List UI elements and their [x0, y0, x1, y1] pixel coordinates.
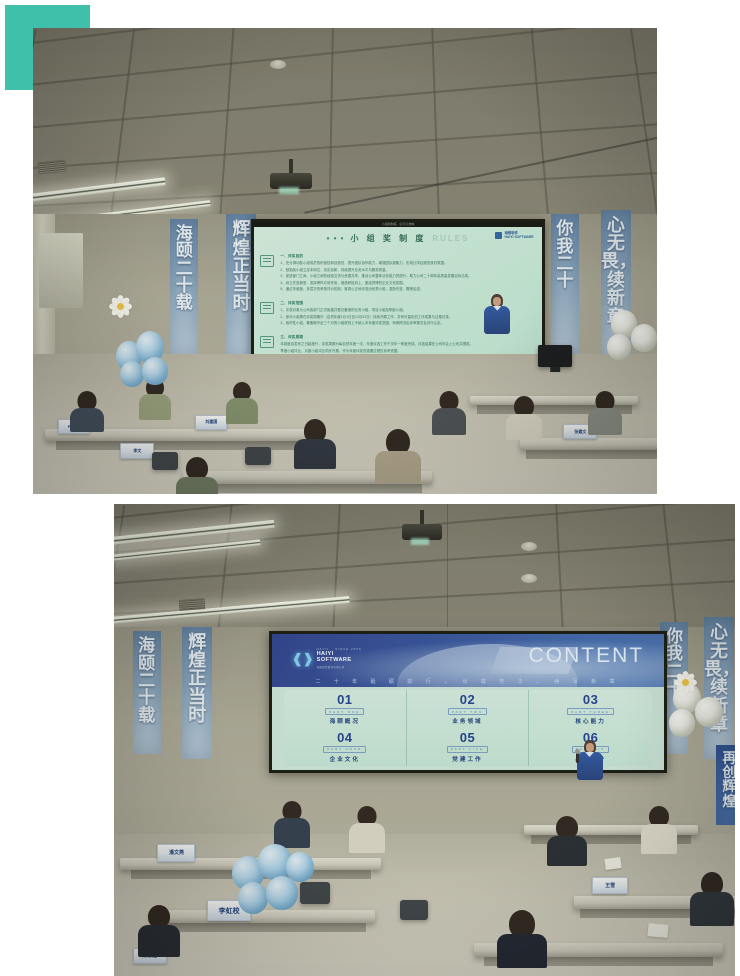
slide-title-text: 小 组 奖 制 度 [350, 234, 426, 243]
placard-name: 刘建国 [205, 419, 217, 425]
agenda-item[interactable]: 03 PART THREE 核心能力 [529, 690, 652, 728]
audience-member [507, 396, 541, 438]
banner-text: 海颐二十载 [170, 225, 198, 312]
banner-text: 你我二十 [551, 220, 579, 289]
slide-title: CONTENT [529, 644, 645, 668]
name-placard: 刘建国 [195, 415, 227, 430]
document-icon [260, 255, 274, 267]
flower-decoration [673, 669, 699, 695]
agenda-number: 02 [460, 693, 475, 706]
agenda-item[interactable]: 05 PART FIVE 党建工作 [407, 728, 530, 766]
presenter-standing [482, 294, 512, 338]
agenda-label: 核心能力 [575, 717, 605, 725]
balloon-cluster-center [232, 830, 322, 916]
agenda-item[interactable]: 04 PART FOUR 企业文化 [284, 728, 407, 766]
handout-paper [648, 923, 669, 938]
audience-member [350, 806, 384, 850]
ceiling-projector [270, 159, 312, 193]
ceiling [33, 28, 657, 242]
slide-block: 一、评奖目的 1、充分调动各小组成员的积极性和创造性，提升团队协作能力，增强团队… [280, 254, 525, 292]
placard-name: 张建文 [574, 429, 586, 435]
audience-member [177, 457, 217, 494]
audience-member [376, 429, 420, 481]
balloon-cluster-right [607, 308, 657, 368]
side-banner: 再创辉煌 [716, 745, 735, 825]
photo-top-presentation-room: 海颐二十载 辉煌正当时 你我二十 心无畏，续新章 小组奖制度 - 幻灯片放映 •… [33, 28, 657, 494]
slide-block-line: 3、促进部门之间、小组之间的经验交流与资源共享，推动公司整体业务能力的提升，助力… [280, 274, 525, 279]
slide-block-line: 2、鼓励各小组立足本岗位，务实创新，持续提升业务水平与服务质量。 [280, 268, 525, 273]
agenda-part-label: PART FIVE [447, 746, 488, 753]
agenda-item[interactable]: 02 PART TWO 业务领域 [407, 690, 530, 728]
agenda-number: 03 [583, 693, 598, 706]
chair [400, 900, 428, 920]
slide-block: 三、评奖周期 本制度自发布之日起施行，评奖周期为每自然年度一次，年度评选工作于次… [280, 335, 525, 354]
audience-member [692, 872, 732, 924]
agenda-part-label: PART THREE [567, 708, 614, 715]
photo-bottom-presentation-room: 海颐二十载 辉煌正当时 你我二十 心无畏，续新章 再创辉煌 公司介绍 - 幻灯片… [114, 504, 735, 976]
slide-block-line: 1、充分调动各小组成员的积极性和创造性，提升团队协作能力，增强团队凝聚力，形成比… [280, 261, 525, 266]
slide-window-label: 小组奖制度 - 幻灯片放映 [382, 222, 415, 227]
banner-text: 海颐二十载 [133, 637, 161, 724]
document-icon [260, 336, 274, 348]
audience-member [295, 419, 335, 467]
name-placard: 李文 [120, 443, 154, 459]
placard-name: 王雪 [605, 882, 615, 889]
audience-member [549, 816, 585, 864]
audience-member [70, 391, 104, 429]
audience-member [499, 910, 545, 966]
agenda-number: 05 [460, 731, 475, 744]
swan-logo-icon: ❰❱ [292, 652, 314, 665]
slide-logo-line2: HAIYI SOFTWARE [504, 236, 533, 240]
projection-screen: 小组奖制度 - 幻灯片放映 • • •小 组 奖 制 度RULES 海颐软件 H… [251, 219, 544, 359]
chair [152, 452, 178, 470]
slide-window-bar: 小组奖制度 - 幻灯片放映 [254, 222, 541, 227]
slide-title-dots: • • • [327, 234, 345, 243]
banner-left-inner: 辉煌正当时 [182, 627, 212, 759]
placard-name: 潘文燕 [169, 849, 184, 856]
agenda-label: 海颐概况 [330, 717, 360, 725]
slide-tagline: 二 十 年 砥 砺 前 行 ， 廿 载 芳 华 ， 续 写 新 章 [272, 678, 663, 685]
ceiling-projector [402, 510, 442, 544]
agenda-number: 04 [337, 731, 352, 744]
podium-monitor [538, 345, 572, 367]
audience-member [432, 391, 466, 433]
projection-screen: 公司介绍 - 幻灯片放映 ❰❱ HAIYI · SINCE 2005 HAIYI… [269, 631, 666, 773]
slide-title-ghost: RULES [432, 234, 469, 243]
agenda-part-label: PART TWO [448, 708, 487, 715]
name-placard: 潘文燕 [157, 844, 195, 862]
logo-name-line2: SOFTWARE [317, 657, 362, 663]
audience-member [642, 806, 676, 852]
slide-block-line: 5、通过多维度、多层次的考核评价机制，客观公正地评选出优秀小组，激励先进、鞭策后… [280, 287, 525, 292]
side-whiteboard [39, 233, 83, 308]
slide-block-line: 本制度自发布之日起施行，评奖周期为每自然年度一次，年度评选工作于次年一季度完成，… [280, 342, 525, 347]
agenda-part-label: PART ONE [325, 708, 364, 715]
presenter-with-microphone [574, 740, 606, 788]
agenda-part-label: PART FOUR [323, 746, 366, 753]
name-placard: 王雪 [592, 877, 628, 894]
slide-block-line: 季度小组评比、月度小组评比同步开展，作为年度评奖的重要过程性参考依据。 [280, 349, 525, 354]
agenda-item[interactable]: 01 PART ONE 海颐概况 [284, 690, 407, 728]
slide-logo: 海颐软件 HAIYI SOFTWARE [495, 232, 533, 240]
side-banner-text: 再创辉煌 [716, 751, 735, 808]
agenda-label: 党建工作 [452, 755, 482, 763]
audience-member [139, 905, 179, 955]
flower-decoration [108, 294, 134, 320]
document-icon [260, 302, 274, 314]
banner-left-outer: 海颐二十载 [133, 631, 161, 754]
audience-member [226, 382, 258, 422]
air-vent [178, 598, 205, 611]
microphone [576, 752, 579, 763]
handout-paper [604, 857, 621, 870]
agenda-label: 企业文化 [330, 755, 360, 763]
banner-right-inner: 你我二十 [551, 214, 579, 358]
banner-text: 辉煌正当时 [182, 633, 212, 725]
balloon-cluster-left [114, 317, 184, 383]
haiyi-logo-mark-icon [495, 232, 502, 239]
chair [245, 447, 271, 465]
audience-member [588, 391, 622, 433]
agenda-label: 业务领域 [452, 717, 482, 725]
logo-name-sub: 海颐软件股份有限公司 [317, 665, 362, 669]
slide-block-line: 4、树立先进典型，发挥榜样引领作用，营造积极向上、团结拼搏的企业文化氛围。 [280, 281, 525, 286]
slide-block-heading: 一、评奖目的 [280, 254, 525, 259]
haiyi-logo: ❰❱ HAIYI · SINCE 2005 HAIYI SOFTWARE 海颐软… [292, 648, 362, 669]
agenda-number: 01 [337, 693, 352, 706]
placard-name: 李文 [133, 448, 141, 454]
